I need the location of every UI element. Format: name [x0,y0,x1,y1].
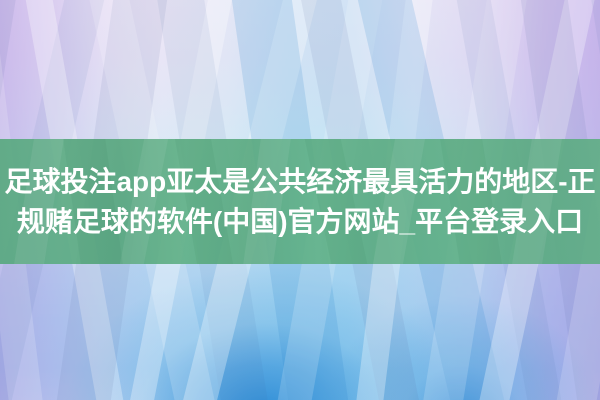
banner-title-line-1: 足球投注app亚太是公共经济最具活力的地区-正 [4,162,595,202]
banner-title: 足球投注app亚太是公共经济最具活力的地区-正 规赌足球的软件(中国)官方网站_… [0,139,600,264]
banner-image: 足球投注app亚太是公共经济最具活力的地区-正 规赌足球的软件(中国)官方网站_… [0,0,600,400]
banner-title-line-2: 规赌足球的软件(中国)官方网站_平台登录入口 [17,202,583,242]
